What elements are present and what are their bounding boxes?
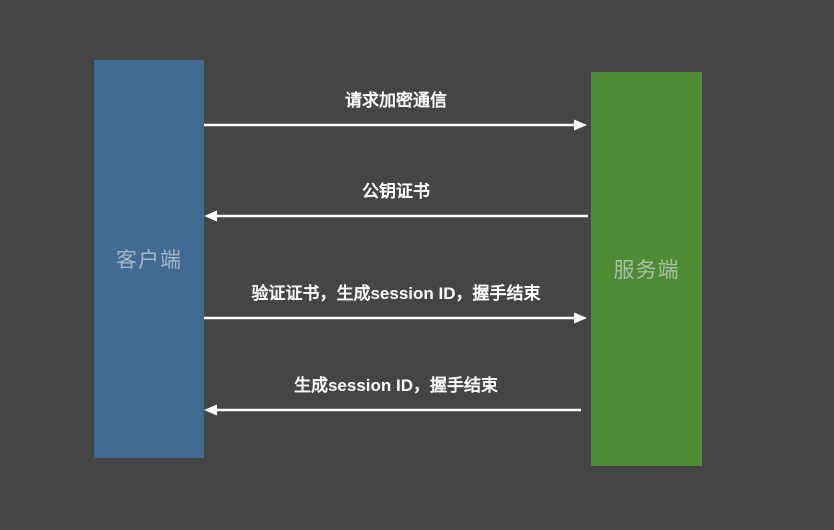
- message-row: 生成session ID，握手结束: [204, 371, 588, 417]
- participant-client: 客户端: [94, 60, 204, 458]
- participant-server: 服务端: [591, 72, 702, 466]
- message-label: 公钥证书: [204, 177, 588, 202]
- arrow-right-icon: [204, 311, 588, 325]
- participant-client-label: 客户端: [116, 244, 182, 274]
- sequence-diagram: 客户端 服务端 请求加密通信 公钥证书 验证证书，生成session ID，握手…: [0, 0, 834, 530]
- message-row: 请求加密通信: [204, 86, 588, 132]
- message-row: 公钥证书: [204, 177, 588, 223]
- participant-server-label: 服务端: [614, 254, 680, 284]
- arrow-left-icon: [204, 403, 588, 417]
- arrow-right-icon: [204, 118, 588, 132]
- message-label: 生成session ID，握手结束: [204, 371, 588, 396]
- message-label: 请求加密通信: [204, 86, 588, 111]
- arrow-left-icon: [204, 209, 588, 223]
- message-row: 验证证书，生成session ID，握手结束: [204, 279, 588, 325]
- message-label: 验证证书，生成session ID，握手结束: [204, 279, 588, 304]
